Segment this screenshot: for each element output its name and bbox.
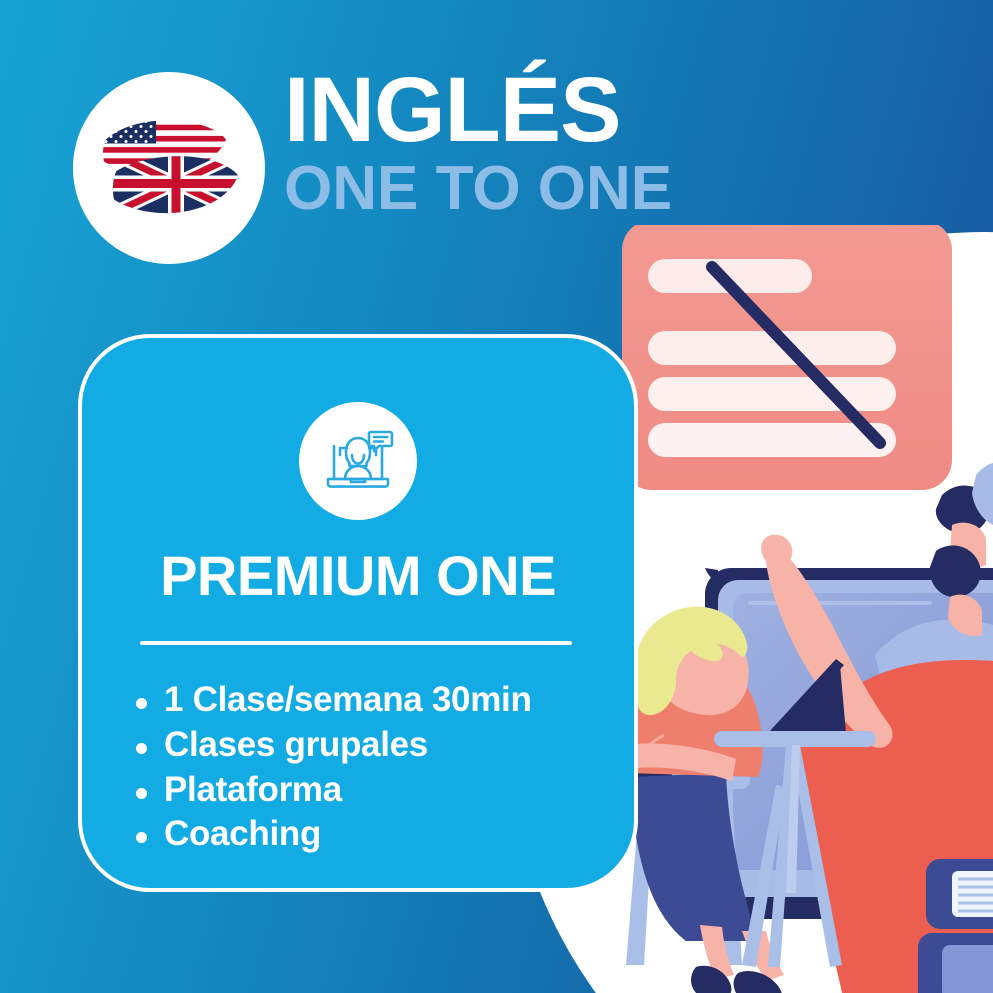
divider <box>140 641 572 645</box>
list-item: Coaching <box>124 812 614 857</box>
usa-uk-flags-icon <box>94 110 244 227</box>
page-title: INGLÉS <box>284 66 804 154</box>
online-class-illustration <box>600 225 993 993</box>
list-item: Clases grupales <box>124 723 614 768</box>
plan-icon-circle <box>299 402 417 520</box>
logo-circle <box>73 72 265 264</box>
list-item: 1 Clase/semana 30min <box>124 678 614 723</box>
header-titles: INGLÉS ONE TO ONE <box>284 66 804 221</box>
plan-card[interactable]: PREMIUM ONE 1 Clase/semana 30min Clases … <box>78 334 638 892</box>
salmon-text-card <box>622 225 952 490</box>
list-item: Plataforma <box>124 768 614 813</box>
laptop-person-chat-icon <box>321 422 395 501</box>
plan-features-list: 1 Clase/semana 30min Clases grupales Pla… <box>124 678 614 857</box>
plan-title: PREMIUM ONE <box>82 543 634 608</box>
page-subtitle: ONE TO ONE <box>284 156 804 221</box>
promo-banner: INGLÉS ONE TO ONE <box>0 0 993 993</box>
